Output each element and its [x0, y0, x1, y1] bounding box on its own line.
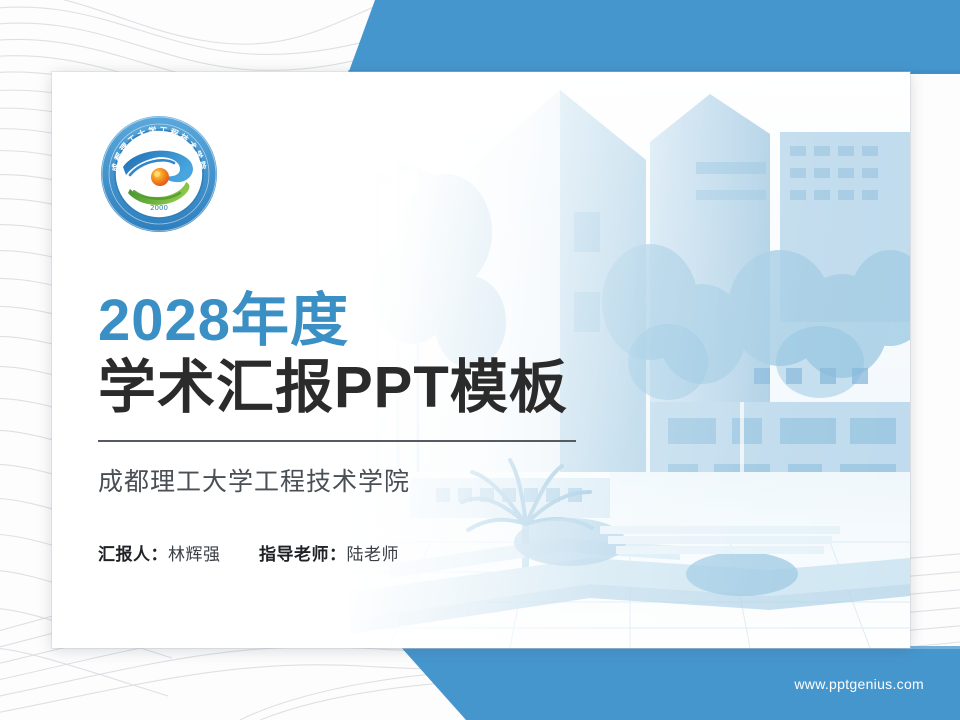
title-main: 学术汇报PPT模板 — [98, 355, 576, 421]
advisor-name: 陆老师 — [346, 545, 399, 564]
college-logo: 成都理工大学工程技术学院 ENGINEERING TECHNICAL COLLE… — [100, 115, 218, 233]
top-blue-band — [0, 0, 960, 74]
title-divider — [98, 440, 576, 442]
logo-year: 2000 — [150, 204, 168, 212]
title-year: 2028年度 — [98, 290, 576, 351]
footer-url[interactable]: www.pptgenius.com — [794, 676, 924, 692]
presenter-name: 林辉强 — [168, 545, 221, 564]
presenter-label: 汇报人： — [98, 545, 168, 564]
presentation-slide: 成都理工大学工程技术学院 ENGINEERING TECHNICAL COLLE… — [0, 0, 960, 720]
presenter-line: 汇报人：林辉强 指导老师：陆老师 — [98, 540, 576, 565]
advisor-label: 指导老师： — [259, 545, 347, 564]
title-block: 2028年度 学术汇报PPT模板 成都理工大学工程技术学院 汇报人：林辉强 指导… — [98, 290, 576, 565]
slide-card: 成都理工大学工程技术学院 ENGINEERING TECHNICAL COLLE… — [52, 72, 910, 648]
organization-name: 成都理工大学工程技术学院 — [98, 462, 576, 498]
